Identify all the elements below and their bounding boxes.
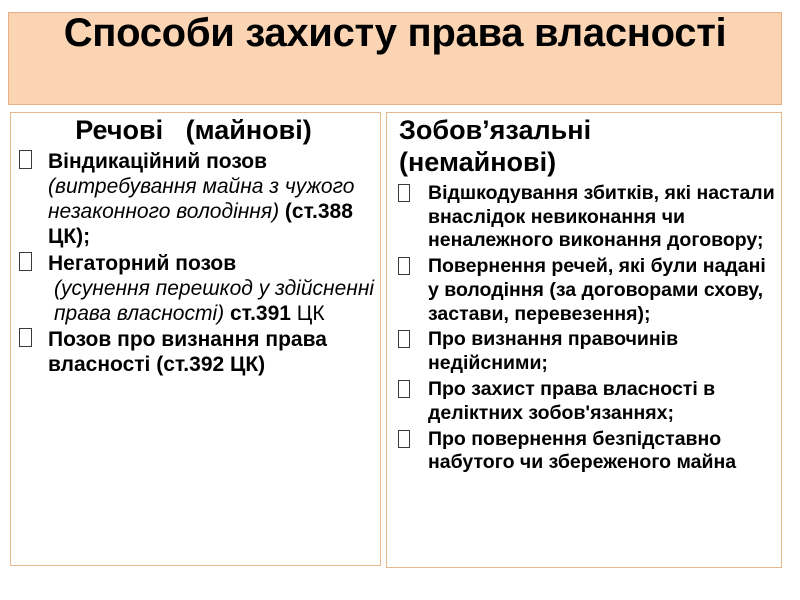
list-item-citation: ст.391 xyxy=(230,302,291,325)
bullet-box-icon xyxy=(19,252,32,271)
list-item: Віндикаційний позов (витребування майна … xyxy=(15,149,376,250)
list-item-lead: Позов про визнання права власності (ст.3… xyxy=(48,328,327,376)
right-column-content: Зобов’язальні (немайнові) Відшкодування … xyxy=(387,113,781,477)
list-item-body: Про захист права власності в деліктних з… xyxy=(428,378,777,426)
left-column-content: Речові (майнові) Віндикаційний позов (ви… xyxy=(11,113,380,379)
bullet-box-icon xyxy=(398,330,410,348)
list-item: Повернення речей, які були надані у воло… xyxy=(391,255,777,326)
list-item-lead: Негаторний позов xyxy=(48,252,236,275)
left-column-box: Речові (майнові) Віндикаційний позов (ви… xyxy=(10,112,381,566)
right-column-box: Зобов’язальні (немайнові) Відшкодування … xyxy=(386,112,782,568)
list-item-citation-tail: ЦК xyxy=(291,302,325,325)
bullet-box-icon xyxy=(19,150,32,169)
list-item: Позов про визнання права власності (ст.3… xyxy=(15,327,376,377)
list-item-body: Про визнання правочинів недійсними; xyxy=(428,328,777,376)
list-item-body: Відшкодування збитків, які настали внасл… xyxy=(428,182,777,253)
bullet-box-icon xyxy=(398,380,410,398)
list-item-lead: Віндикаційний позов xyxy=(48,150,267,173)
list-item-body: Віндикаційний позов (витребування майна … xyxy=(48,149,376,250)
list-item-body: Про повернення безпідставно набутого чи … xyxy=(428,428,777,476)
list-item-body: Повернення речей, які були надані у воло… xyxy=(428,255,777,326)
left-column-list: Віндикаційний позов (витребування майна … xyxy=(15,149,376,378)
bullet-box-icon xyxy=(398,257,410,275)
bullet-box-icon xyxy=(398,184,410,202)
left-column-heading: Речові (майнові) xyxy=(15,115,376,147)
title-band xyxy=(8,12,782,105)
list-item: Про захист права власності в деліктних з… xyxy=(391,378,777,426)
right-column-heading: Зобов’язальні (немайнові) xyxy=(391,115,604,179)
list-item-detail: (усунення перешкод у здійсненні права вл… xyxy=(54,277,374,325)
list-item-detail-wrap: (усунення перешкод у здійсненні права вл… xyxy=(54,276,376,326)
bullet-box-icon xyxy=(19,328,32,347)
bullet-box-icon xyxy=(398,430,410,448)
right-column-list: Відшкодування збитків, які настали внасл… xyxy=(391,182,777,475)
list-item: Негаторний позов (усунення перешкод у зд… xyxy=(15,251,376,327)
list-item: Про повернення безпідставно набутого чи … xyxy=(391,428,777,476)
list-item: Про визнання правочинів недійсними; xyxy=(391,328,777,376)
list-item: Відшкодування збитків, які настали внасл… xyxy=(391,182,777,253)
list-item-body: Негаторний позов (усунення перешкод у зд… xyxy=(48,251,376,327)
list-item-body: Позов про визнання права власності (ст.3… xyxy=(48,327,376,377)
